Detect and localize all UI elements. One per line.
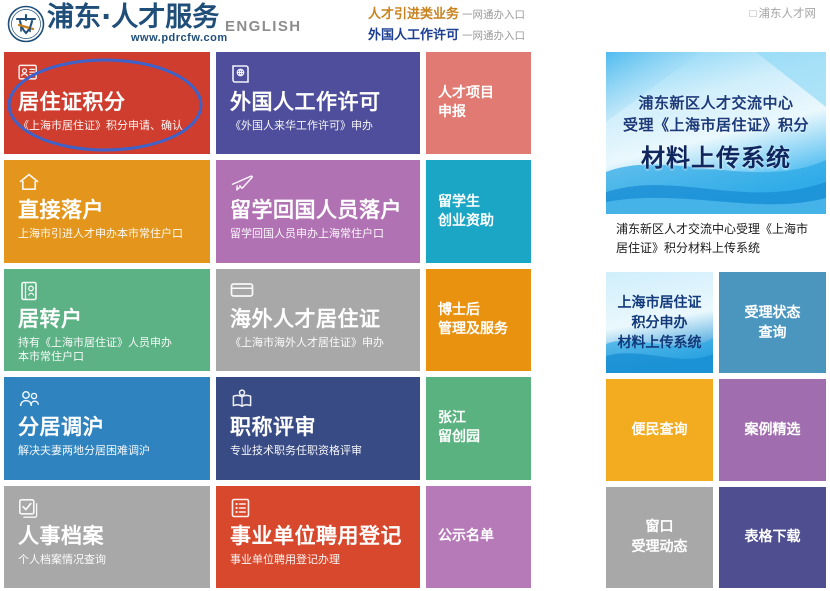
book-person-icon	[230, 389, 420, 411]
english-language-link[interactable]: ENGLISH	[225, 18, 301, 35]
header-link-work-permit-label: 外国人工作许可	[368, 27, 459, 42]
checklist-icon	[18, 498, 210, 520]
service-tile-subtitle: 个人档案情况查询	[18, 553, 210, 567]
pudong-talent-site-link[interactable]: □浦东人才网	[750, 5, 816, 21]
service-tile-title: 外国人工作许可	[230, 89, 420, 115]
upload-tile-2[interactable]: 受理状态 查询	[719, 272, 826, 373]
certificate-icon	[18, 281, 210, 303]
header-quick-links: 人才引进类业务一网通办入口 外国人工作许可一网通办入口	[368, 4, 525, 46]
site-logo[interactable]: 浦东·人才服务 www.pdrcfw.com	[6, 4, 228, 44]
header-link-work-permit-sub: 一网通办入口	[462, 30, 525, 42]
service-tile-1[interactable]: 居住证积分《上海市居住证》积分申请、确认	[4, 52, 210, 154]
list-icon	[230, 498, 420, 520]
banner-line-1: 浦东新区人才交流中心	[638, 92, 793, 114]
circular-seal-icon	[6, 4, 46, 44]
site-header: 浦东·人才服务 www.pdrcfw.com ENGLISH 人才引进类业务一网…	[0, 0, 830, 50]
service-tile-title: 直接落户	[18, 197, 210, 223]
service-tile-subtitle: 专业技术职务任职资格评审	[230, 444, 420, 458]
service-tile-subtitle: 《上海市海外人才居住证》申办	[230, 336, 420, 350]
upload-tile-4[interactable]: 案例精选	[719, 379, 826, 480]
upload-tile-title: 表格下载	[745, 527, 801, 547]
service-tile-subtitle: 《外国人来华工作许可》申办	[230, 119, 420, 133]
service-tile-5[interactable]: 留学回国人员落户留学回国人员申办上海常住户口	[216, 160, 420, 262]
banner-line-2: 受理《上海市居住证》积分	[623, 114, 809, 136]
upload-tile-3[interactable]: 便民查询	[606, 379, 713, 480]
upload-system-tile-grid: 上海市居住证 积分申办 材料上传系统受理状态 查询便民查询案例精选窗口 受理动态…	[606, 272, 826, 588]
upload-system-panel: 浦东新区人才交流中心 受理《上海市居住证》积分 材料上传系统 浦东新区人才交流中…	[606, 52, 826, 588]
service-tile-11[interactable]: 职称评审专业技术职务任职资格评审	[216, 377, 420, 479]
service-tile-title: 人事档案	[18, 523, 210, 549]
service-tile-14[interactable]: 事业单位聘用登记事业单位聘用登记办理	[216, 486, 420, 588]
service-tile-subtitle: 事业单位聘用登记办理	[230, 553, 420, 567]
service-tile-subtitle: 解决夫妻两地分居困难调沪	[18, 444, 210, 458]
family-icon	[18, 389, 210, 411]
service-tile-9[interactable]: 博士后 管理及服务	[426, 269, 531, 371]
service-tile-subtitle: 持有《上海市居住证》人员申办 本市常住户口	[18, 336, 210, 364]
home-icon	[18, 172, 210, 194]
external-link-icon: □	[750, 8, 757, 20]
service-tile-title: 居转户	[18, 306, 210, 332]
upload-tile-1[interactable]: 上海市居住证 积分申办 材料上传系统	[606, 272, 713, 373]
upload-tile-title: 便民查询	[632, 420, 688, 440]
service-tile-title: 海外人才居住证	[230, 306, 420, 332]
upload-system-banner[interactable]: 浦东新区人才交流中心 受理《上海市居住证》积分 材料上传系统	[606, 52, 826, 214]
upload-tile-title: 受理状态 查询	[745, 303, 801, 343]
card-icon	[230, 281, 420, 303]
header-link-talent-import-sub: 一网通办入口	[462, 9, 525, 21]
service-tile-4[interactable]: 直接落户上海市引进人才申办本市常住户口	[4, 160, 210, 262]
id-card-icon	[18, 64, 210, 86]
upload-tile-title: 上海市居住证 积分申办 材料上传系统	[618, 293, 702, 353]
service-tile-title: 张江 留创园	[438, 409, 480, 447]
logo-url: www.pdrcfw.com	[131, 32, 228, 44]
upload-tile-5[interactable]: 窗口 受理动态	[606, 487, 713, 588]
service-tile-title: 职称评审	[230, 414, 420, 440]
service-tile-2[interactable]: 外国人工作许可《外国人来华工作许可》申办	[216, 52, 420, 154]
service-tile-subtitle: 上海市引进人才申办本市常住户口	[18, 227, 210, 241]
service-tile-7[interactable]: 居转户持有《上海市居住证》人员申办 本市常住户口	[4, 269, 210, 371]
service-tile-15[interactable]: 公示名单	[426, 486, 531, 588]
service-tile-subtitle: 《上海市居住证》积分申请、确认	[18, 119, 210, 133]
passport-icon	[230, 64, 420, 86]
service-tile-subtitle: 留学回国人员申办上海常住户口	[230, 227, 420, 241]
banner-caption: 浦东新区人才交流中心受理《上海市居住证》积分材料上传系统	[606, 215, 826, 265]
service-tile-title: 分居调沪	[18, 414, 210, 440]
service-tile-10[interactable]: 分居调沪解决夫妻两地分居困难调沪	[4, 377, 210, 479]
upload-tile-6[interactable]: 表格下载	[719, 487, 826, 588]
service-tile-3[interactable]: 人才项目 申报	[426, 52, 531, 154]
header-link-talent-import[interactable]: 人才引进类业务一网通办入口	[368, 4, 525, 25]
header-link-work-permit[interactable]: 外国人工作许可一网通办入口	[368, 25, 525, 46]
service-tile-title: 居住证积分	[18, 89, 210, 115]
banner-line-3: 材料上传系统	[641, 142, 791, 174]
service-tile-title: 人才项目 申报	[438, 84, 494, 122]
service-tile-title: 留学回国人员落户	[230, 197, 420, 223]
service-tile-8[interactable]: 海外人才居住证《上海市海外人才居住证》申办	[216, 269, 420, 371]
upload-tile-title: 窗口 受理动态	[632, 517, 688, 557]
service-tile-title: 博士后 管理及服务	[438, 301, 508, 339]
service-tile-grid: 居住证积分《上海市居住证》积分申请、确认外国人工作许可《外国人来华工作许可》申办…	[4, 52, 529, 588]
service-tile-title: 留学生 创业资助	[438, 193, 494, 231]
pudong-talent-site-label: 浦东人才网	[759, 8, 817, 20]
service-tile-13[interactable]: 人事档案个人档案情况查询	[4, 486, 210, 588]
logo-wordmark: 浦东·人才服务	[47, 4, 228, 31]
service-tile-6[interactable]: 留学生 创业资助	[426, 160, 531, 262]
service-tile-12[interactable]: 张江 留创园	[426, 377, 531, 479]
service-tile-title: 事业单位聘用登记	[230, 523, 420, 549]
header-link-talent-import-label: 人才引进类业务	[368, 6, 459, 21]
upload-tile-title: 案例精选	[745, 420, 801, 440]
airplane-icon	[230, 172, 420, 194]
service-tile-title: 公示名单	[438, 527, 494, 546]
